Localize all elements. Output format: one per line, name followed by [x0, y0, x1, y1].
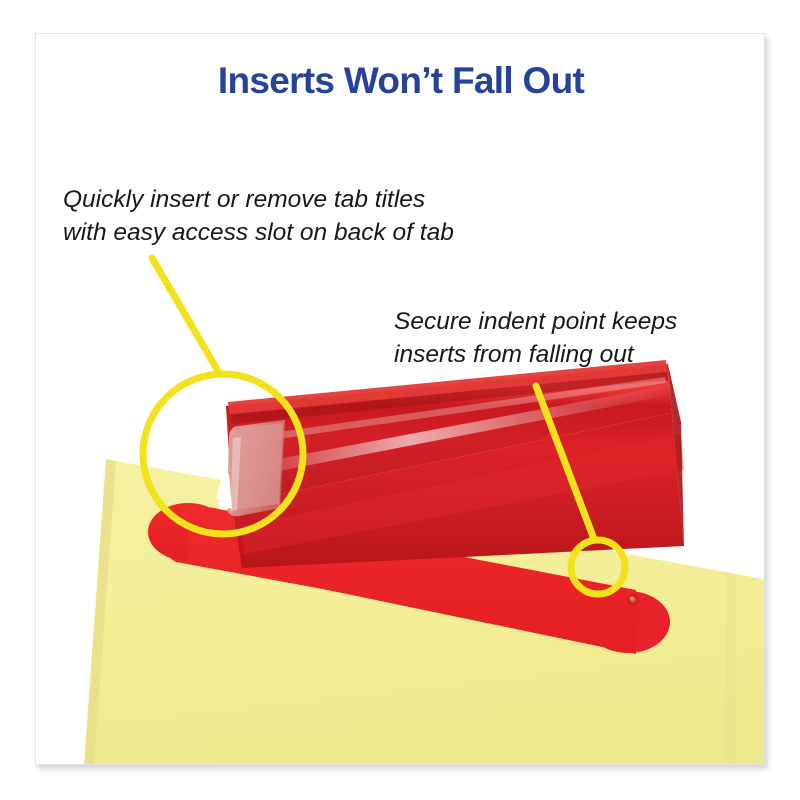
callout-insert-remove-tab-titles: Quickly insert or remove tab titles with… [63, 184, 454, 249]
product-photo-frame: Inserts Won’t Fall Out Quickly insert or… [35, 33, 765, 765]
product-illustration [36, 34, 765, 765]
callout-line: with easy access slot on back of tab [63, 217, 454, 250]
annotation-leader-line-icon [152, 258, 218, 371]
callout-secure-indent-point: Secure indent point keeps inserts from f… [394, 306, 677, 371]
screenshot-stage: Inserts Won’t Fall Out Quickly insert or… [0, 0, 800, 800]
insert-access-slot [227, 420, 285, 516]
secure-indent-point [627, 595, 639, 606]
page-title: Inserts Won’t Fall Out [36, 60, 765, 102]
callout-line: Quickly insert or remove tab titles [63, 184, 454, 217]
callout-line: inserts from falling out [394, 339, 677, 372]
callout-line: Secure indent point keeps [394, 306, 677, 339]
red-insertable-tab [217, 360, 684, 568]
